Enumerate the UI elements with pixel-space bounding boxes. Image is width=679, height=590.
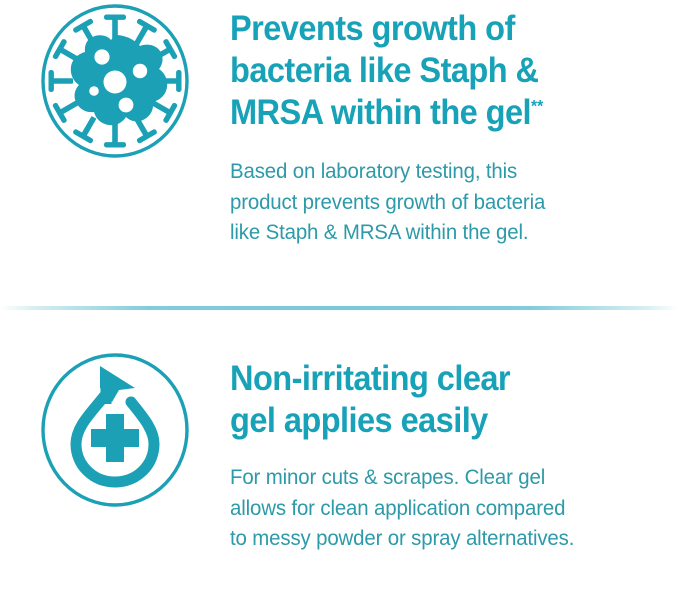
feature-icon-container-gel bbox=[0, 340, 230, 509]
feature-headline-text: Non-irritating clear gel applies easily bbox=[230, 359, 510, 440]
feature-text-container-gel: Non-irritating clear gel applies easily … bbox=[230, 340, 679, 554]
footnote-marker: ** bbox=[531, 96, 543, 115]
feature-block-bacteria: Prevents growth of bacteria like Staph &… bbox=[0, 0, 679, 300]
product-benefits-infographic: Prevents growth of bacteria like Staph &… bbox=[0, 0, 679, 590]
feature-block-gel: Non-irritating clear gel applies easily … bbox=[0, 340, 679, 590]
virus-bacteria-icon bbox=[40, 3, 190, 160]
feature-headline-text: Prevents growth of bacteria like Staph &… bbox=[230, 9, 538, 132]
gel-droplet-cross-icon bbox=[40, 352, 190, 509]
feature-icon-container-bacteria bbox=[0, 0, 230, 160]
feature-body-bacteria: Based on laboratory testing, this produc… bbox=[230, 134, 638, 248]
feature-text-container-bacteria: Prevents growth of bacteria like Staph &… bbox=[230, 0, 679, 248]
section-divider bbox=[0, 306, 679, 310]
feature-body-gel: For minor cuts & scrapes. Clear gel allo… bbox=[230, 442, 638, 554]
feature-headline-gel: Non-irritating clear gel applies easily bbox=[230, 340, 629, 442]
feature-headline-bacteria: Prevents growth of bacteria like Staph &… bbox=[230, 0, 629, 134]
